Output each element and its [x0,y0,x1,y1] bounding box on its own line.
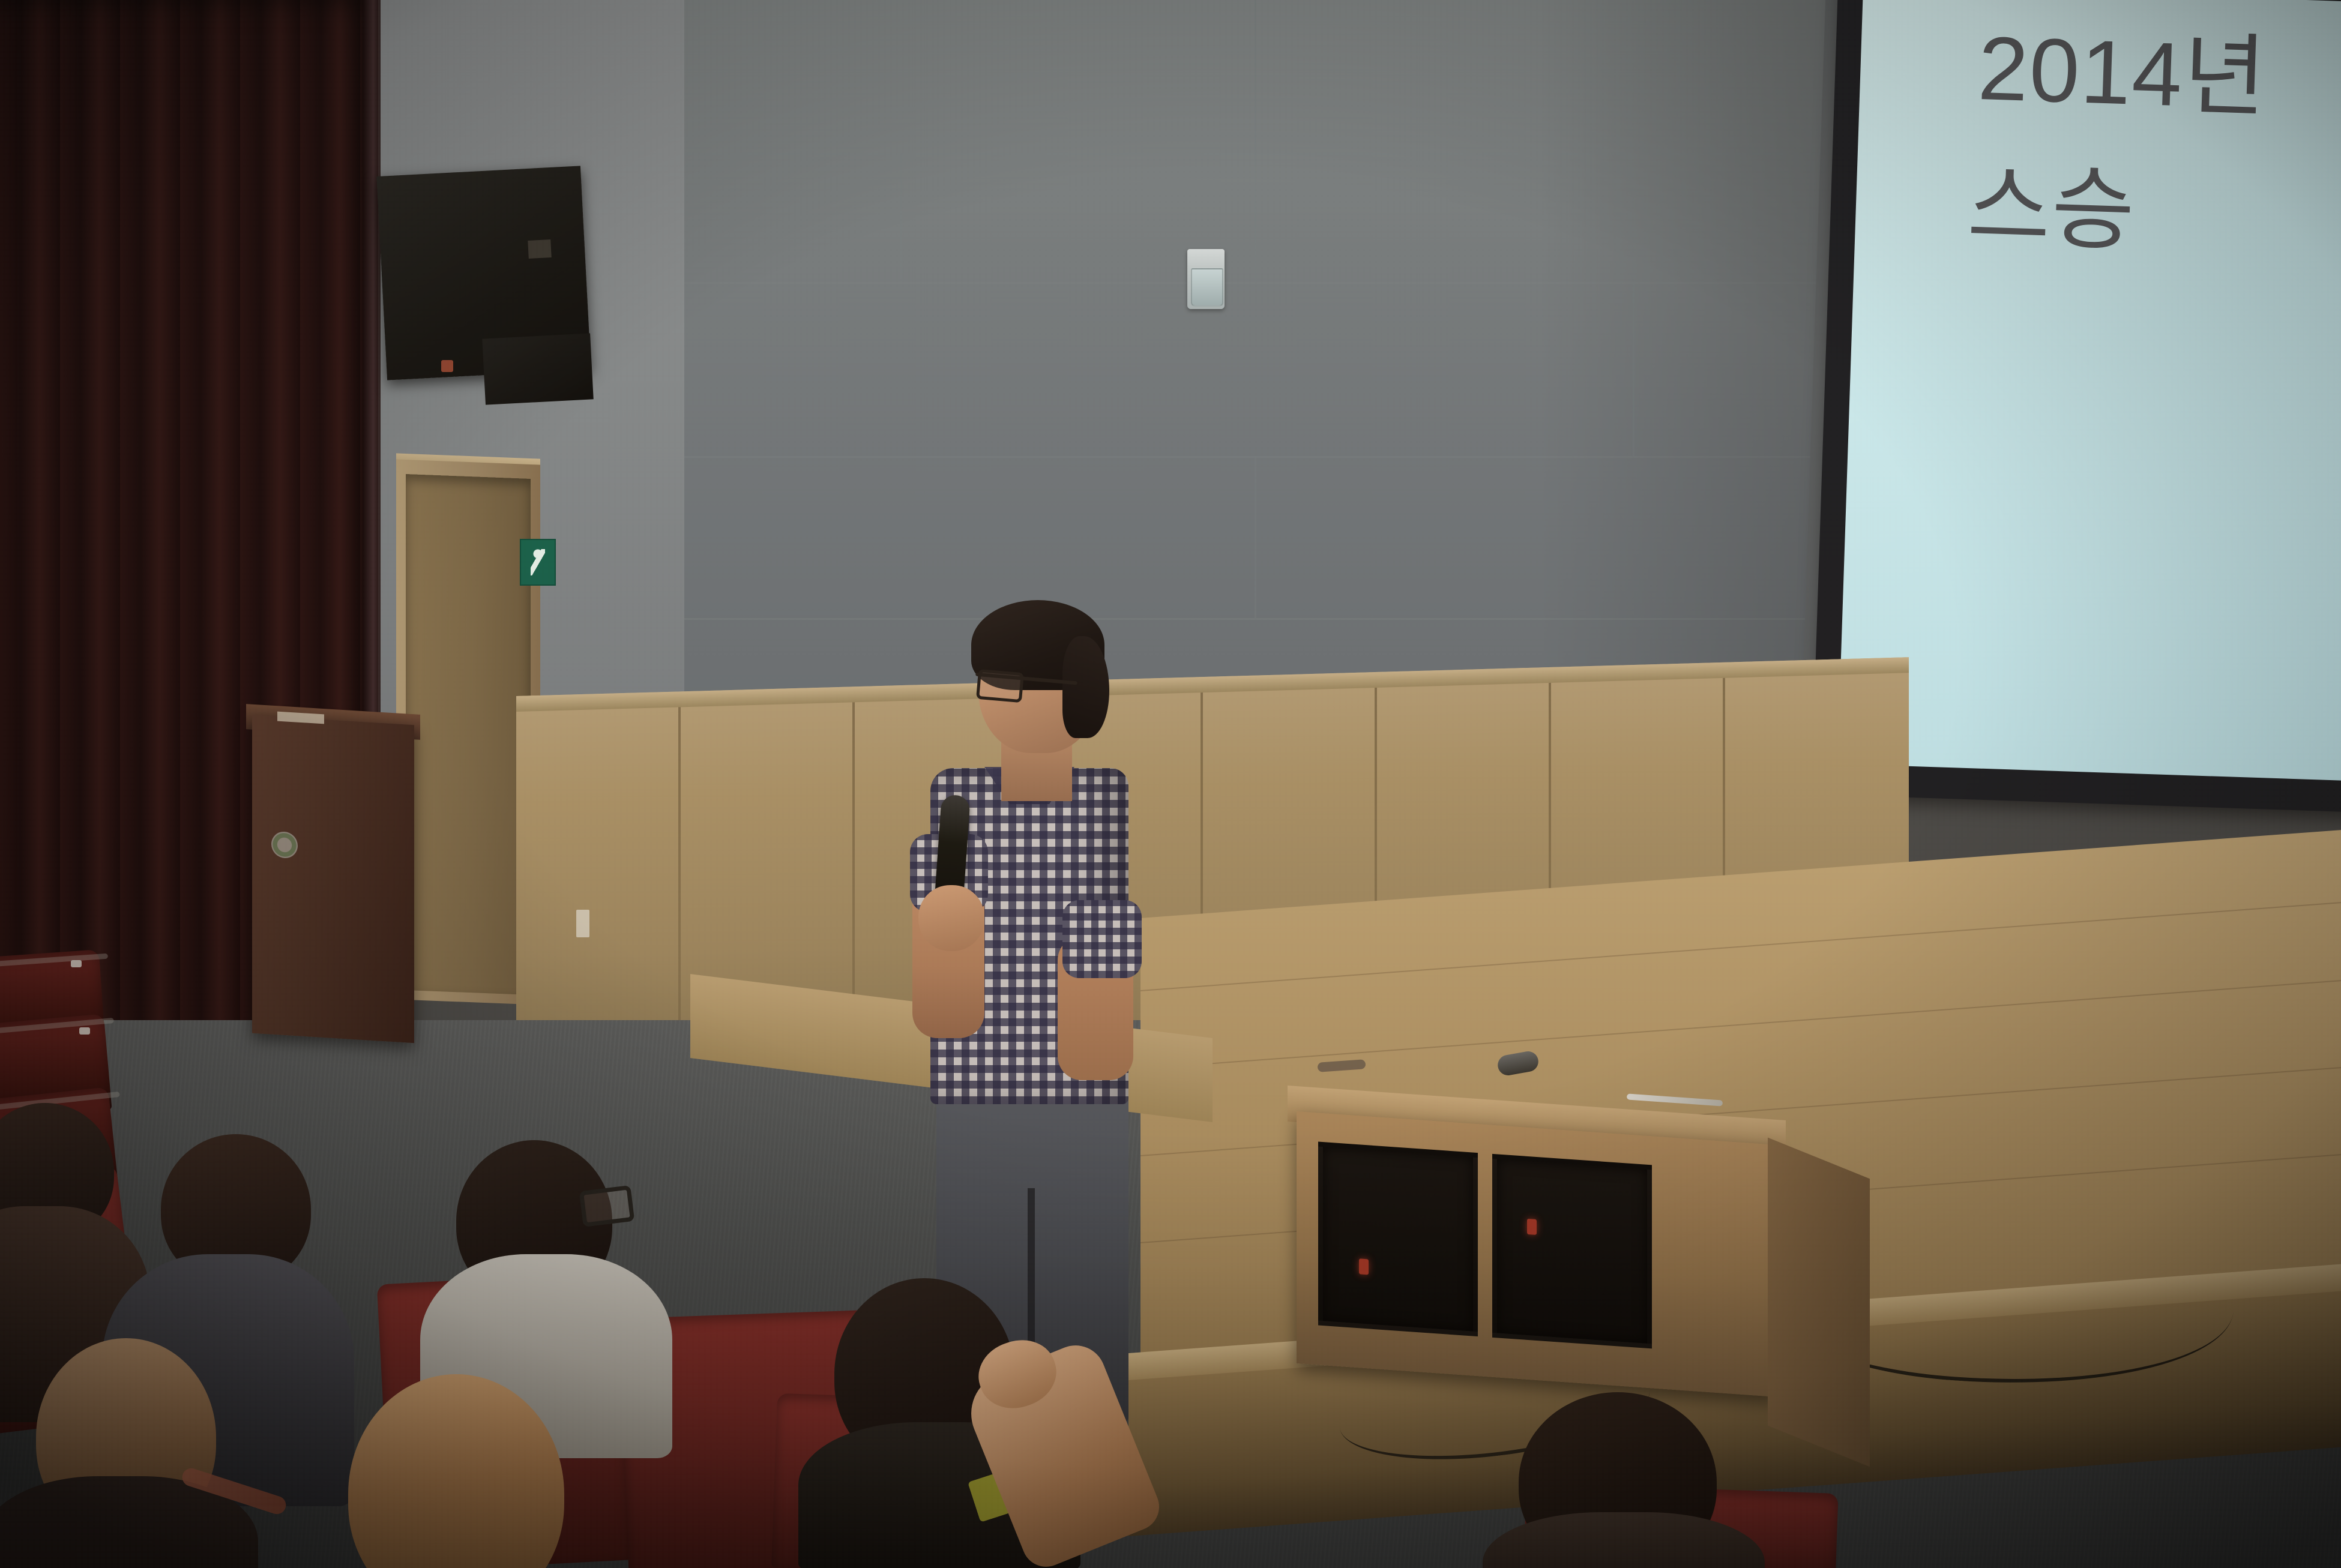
wall-speaker-bracket [528,239,552,259]
av-cabinet-door-left[interactable] [1318,1142,1478,1337]
wall-emergency-light-lens [1191,268,1223,307]
seat-number-marker-2 [79,1027,90,1035]
presenter-sleeve-right [1062,900,1142,978]
door-leaf[interactable] [406,474,531,995]
slide-line-2: 스승 [1966,133,2341,278]
wall-speaker-lower-box [482,333,594,404]
audience-member-4-glasses-icon [579,1185,635,1227]
slide-line-1: 2014년 [1976,0,2341,140]
lectern[interactable] [252,715,414,1044]
photo-scene: 2014년 스승 [0,0,2341,1568]
av-cabinet-door-right[interactable] [1492,1154,1652,1349]
av-cabinet-led-left [1359,1258,1369,1275]
exit-running-person-icon [531,549,545,575]
exit-sign [520,539,556,586]
av-cabinet-led-right [1527,1219,1537,1235]
av-cabinet-side-panel [1768,1138,1870,1467]
av-cabinet[interactable] [1297,1111,1777,1397]
presenter-hand [918,885,984,951]
wall-emergency-light [1187,249,1225,309]
wall-speaker-badge [441,360,453,372]
seat-number-marker-1 [71,960,82,967]
power-outlet [576,910,589,937]
projection-screen-surface: 2014년 스승 [1837,0,2341,782]
